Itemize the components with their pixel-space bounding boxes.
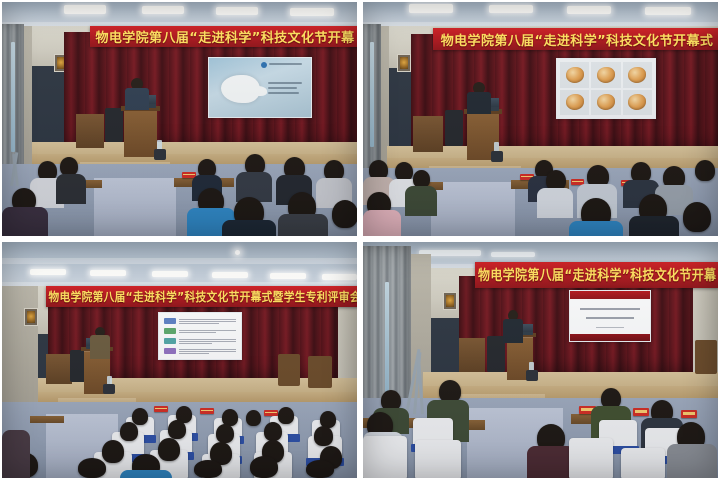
slide-row-tag (164, 318, 176, 324)
event-banner: 物电学院第八届“走进科学”科技文化节开幕式 (433, 28, 718, 50)
ceiling-lamp (152, 271, 188, 277)
slide-row (164, 327, 236, 335)
table-nameplate (681, 410, 697, 418)
speaker-body (503, 319, 523, 343)
audience-body (629, 216, 679, 236)
slide-grid-cell (560, 62, 589, 88)
slide-blob-graphic (221, 75, 260, 103)
audience-seat (621, 448, 665, 478)
table-nameplate (200, 408, 214, 414)
slide-title-line-1 (580, 308, 641, 310)
stage-bag (154, 149, 166, 160)
slide-row-text (179, 339, 236, 344)
panel-bottom-right: 物电学院第八届“走进科学”科技文化节开幕 (363, 242, 718, 478)
ceiling-lamp (489, 5, 533, 13)
stage-chair (278, 354, 300, 386)
ceiling-spotlight (235, 250, 240, 255)
slide-grid-cell (591, 90, 620, 116)
slide-body-line (268, 92, 299, 94)
ceiling-lamp (567, 6, 611, 14)
speaker-body (467, 92, 491, 114)
slide-grid-cell (591, 62, 620, 88)
stage-chair (445, 110, 463, 146)
audience-body (2, 207, 48, 236)
audience-head (102, 440, 124, 463)
projection-screen-surface (209, 58, 311, 117)
audience-head (695, 160, 715, 181)
audience-seat (569, 438, 613, 478)
projection-screen (569, 290, 651, 342)
panel-top-right: 物电学院第八届“走进科学”科技文化节开幕式 (363, 2, 718, 236)
event-banner-text: 物电学院第八届“走进科学”科技文化节开幕式 (441, 30, 714, 49)
slide-row-text (179, 319, 236, 324)
audience-head (78, 458, 106, 478)
slide-row (164, 337, 236, 345)
audience-head (306, 460, 334, 478)
audience-body (363, 210, 401, 236)
podium (124, 109, 157, 157)
audience-head (132, 408, 148, 425)
audience-body (537, 188, 573, 218)
slide-table-rows (159, 313, 241, 359)
audience-head (264, 422, 282, 441)
projection-screen (158, 312, 242, 360)
audience-desk (30, 416, 64, 423)
slide-logo-icon (261, 62, 267, 68)
ceiling-lamp (290, 8, 334, 16)
audience-body (569, 221, 623, 236)
slide-body-line (268, 82, 302, 84)
specimen-image (628, 67, 646, 83)
audience-head (120, 422, 138, 441)
ceiling-lamp (322, 274, 357, 280)
ceiling-lamp (270, 273, 306, 279)
audience-body (56, 174, 86, 204)
panel-top-left: 物电学院第八届“走进科学”科技文化节开幕 (2, 2, 357, 236)
side-table (459, 338, 485, 372)
speaker-body (125, 88, 149, 110)
event-banner-text: 物电学院第八届“走进科学”科技文化节开幕式暨学生专利评审会 (49, 288, 357, 305)
audience-head (314, 426, 333, 446)
slide-image-blob (209, 58, 311, 117)
ceiling-lamp (90, 270, 126, 276)
side-table (76, 114, 104, 148)
audience-head (332, 200, 357, 228)
center-aisle (431, 182, 515, 236)
side-table (46, 354, 72, 384)
slide-footer-line (596, 327, 625, 328)
stage-bag (526, 370, 538, 381)
table-nameplate (154, 406, 168, 412)
slide-title-line (269, 63, 302, 65)
ceiling-lamp (216, 7, 258, 15)
scene-top-right: 物电学院第八届“走进科学”科技文化节开幕式 (363, 2, 718, 236)
speaker-body (90, 335, 110, 359)
event-banner: 物电学院第八届“走进科学”科技文化节开幕 (90, 26, 357, 47)
event-banner: 物电学院第八届“走进科学”科技文化节开幕式暨学生专利评审会 (46, 286, 357, 307)
slide-bottom-band (570, 334, 650, 341)
specimen-image (566, 67, 584, 83)
audience-body (667, 444, 717, 478)
side-wall-left (2, 286, 38, 416)
stage-bag (491, 151, 503, 162)
audience-head (250, 456, 278, 478)
panel-bottom-left: 物电学院第八届“走进科学”科技文化节开幕式暨学生专利评审会 (2, 242, 357, 478)
slide-row-text (179, 330, 236, 333)
slide-image-grid (557, 59, 655, 118)
photo-collage: 物电学院第八届“走进科学”科技文化节开幕 (0, 0, 720, 480)
ceiling-lamp (645, 7, 691, 15)
specimen-image (597, 67, 615, 83)
ceiling-lamp (64, 5, 106, 14)
audience-body (278, 214, 328, 236)
projection-screen-surface (570, 291, 650, 341)
audience-seat (415, 440, 461, 478)
audience-head (278, 407, 294, 424)
stage-bag (103, 384, 115, 394)
audience-body (2, 430, 30, 478)
stage-chair (105, 108, 123, 142)
framed-picture-icon (24, 308, 38, 326)
slide-row-text (179, 349, 236, 354)
slide-row-tag (164, 348, 176, 354)
specimen-image (566, 94, 584, 110)
center-aisle (94, 178, 176, 236)
window-light (385, 282, 389, 392)
ceiling-lamp (212, 272, 248, 278)
specimen-image (628, 94, 646, 110)
audience-head (246, 410, 261, 426)
scene-top-left: 物电学院第八届“走进科学”科技文化节开幕 (2, 2, 357, 236)
audience-head (216, 424, 234, 443)
slide-title-line-2 (586, 317, 634, 319)
stage-chair (695, 340, 717, 374)
slide-body-line (268, 87, 297, 89)
slide-row-tag (164, 338, 176, 344)
audience-head (168, 420, 186, 439)
projection-screen (556, 58, 656, 119)
side-table (413, 116, 443, 152)
ceiling-lamp (409, 4, 453, 13)
event-banner: 物电学院第八届“走进科学”科技文化节开幕 (475, 262, 718, 288)
audience-head (194, 460, 222, 478)
slide-grid-cell (623, 90, 652, 116)
event-banner-text: 物电学院第八届“走进科学”科技文化节开幕 (478, 265, 716, 285)
scene-bottom-left: 物电学院第八届“走进科学”科技文化节开幕式暨学生专利评审会 (2, 242, 357, 478)
ceiling-lamp (491, 252, 535, 257)
table-nameplate (633, 408, 649, 416)
projection-screen-surface (159, 313, 241, 359)
audience-body (527, 446, 575, 478)
slide-grid-cell (623, 62, 652, 88)
slide-row-tag (164, 328, 176, 334)
slide-row (164, 317, 236, 325)
slide-top-band (570, 291, 650, 299)
ceiling-lamp (142, 6, 184, 14)
slide-row (164, 347, 236, 355)
specimen-image (597, 94, 615, 110)
event-banner-text: 物电学院第八届“走进科学”科技文化节开幕 (95, 27, 354, 46)
audience-head (158, 438, 180, 461)
stage-chair (308, 356, 332, 388)
slide-title (570, 291, 650, 341)
projection-screen (208, 57, 312, 118)
framed-picture-icon (397, 54, 411, 72)
audience-seat (363, 436, 407, 478)
window-light (11, 42, 15, 152)
audience-head (683, 202, 711, 232)
slide-grid-cell (560, 90, 589, 116)
ceiling-beam (2, 258, 357, 264)
framed-picture-icon (443, 292, 457, 310)
audience-body (405, 186, 437, 216)
scene-bottom-right: 物电学院第八届“走进科学”科技文化节开幕 (363, 242, 718, 478)
ceiling-lamp (30, 269, 66, 275)
audience-body (120, 470, 172, 478)
window-light (370, 42, 374, 147)
audience-body (222, 220, 276, 236)
projection-screen-surface (557, 59, 655, 118)
